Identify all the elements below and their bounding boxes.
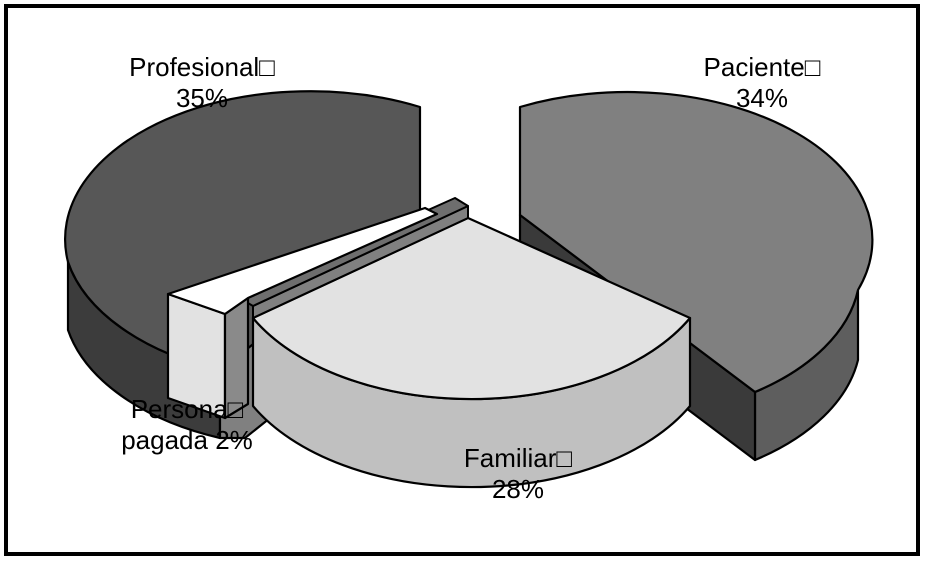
slice-label-familiar-name: Familiar□ (398, 443, 638, 474)
slice-label-persona-pagada-value: pagada 2% (72, 425, 302, 456)
slice-label-paciente-value: 34% (652, 83, 872, 114)
slice-label-paciente-name: Paciente□ (652, 52, 872, 83)
slice-label-persona-pagada-name: Persona□ (72, 394, 302, 425)
slice-label-profesional-value: 35% (92, 83, 312, 114)
slice-label-familiar: Familiar□ 28% (398, 443, 638, 505)
slice-label-familiar-value: 28% (398, 474, 638, 505)
pie-chart-figure: Profesional□ 35% Paciente□ 34% Familiar□… (0, 0, 930, 566)
slice-label-profesional-name: Profesional□ (92, 52, 312, 83)
slice-label-persona-pagada: Persona□ pagada 2% (72, 394, 302, 456)
slice-label-paciente: Paciente□ 34% (652, 52, 872, 114)
slice-label-profesional: Profesional□ 35% (92, 52, 312, 114)
